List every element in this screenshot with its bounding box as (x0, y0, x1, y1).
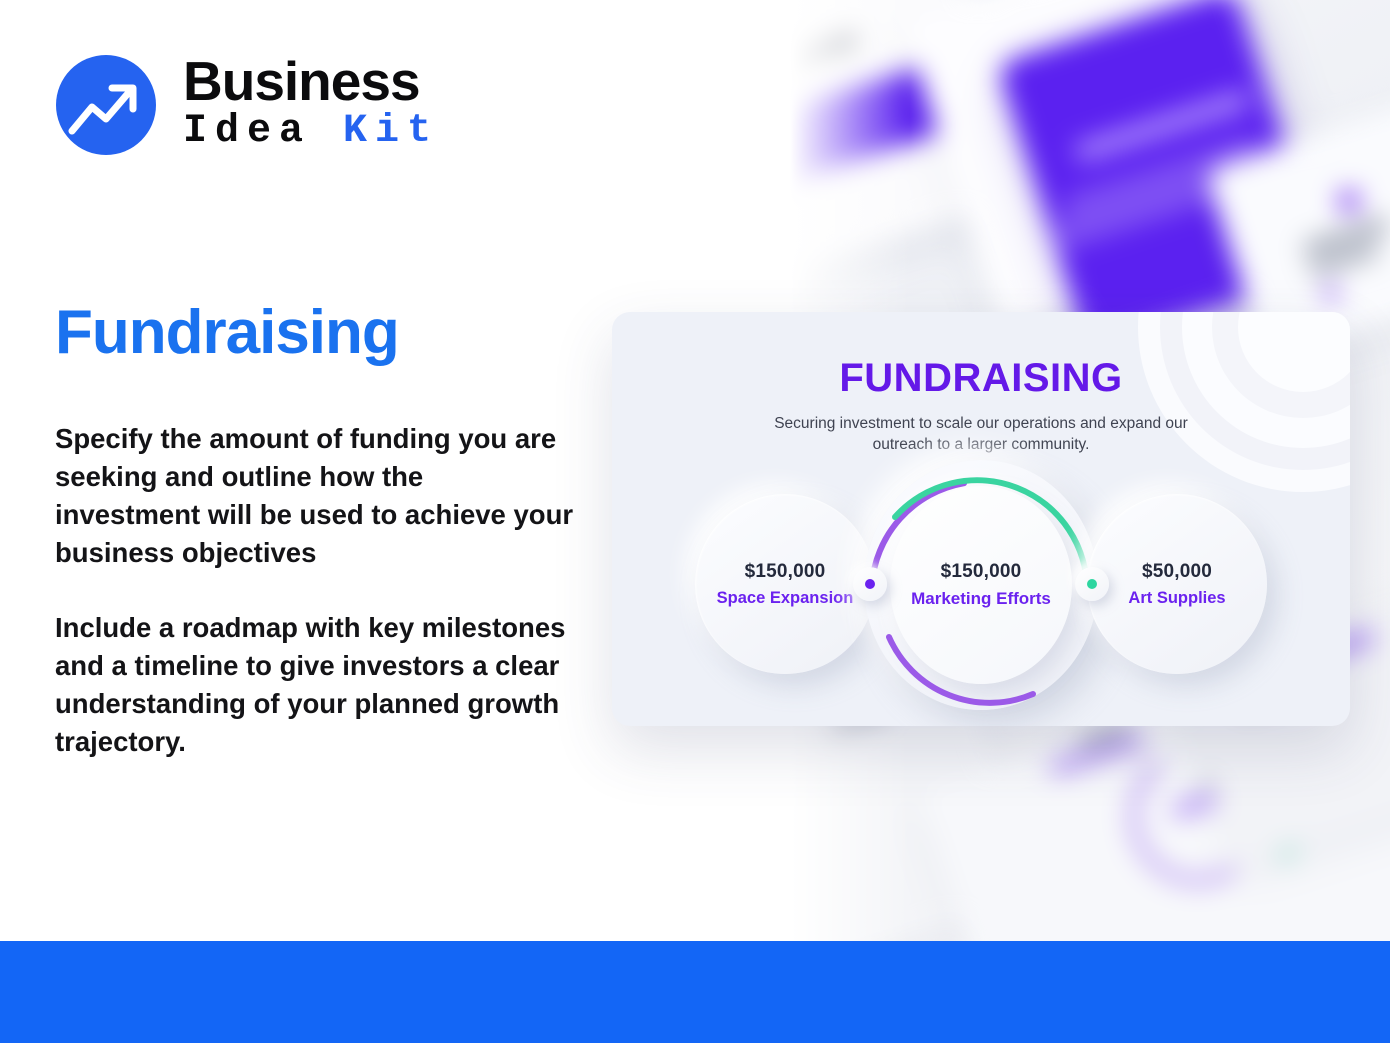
funding-amount: $150,000 (745, 561, 826, 583)
brand-wordmark: Business Idea Kit (183, 51, 439, 155)
brand-name-kit: Kit (343, 109, 439, 154)
fundraising-slide-card[interactable]: FUNDRAISING Securing investment to scale… (612, 312, 1350, 726)
funding-item-center[interactable]: $150,000 Marketing Efforts (864, 460, 1098, 710)
connector-dot-glyph (865, 579, 875, 589)
footer-bar (0, 941, 1390, 1043)
right-connector-dot (1075, 567, 1109, 601)
brand-name-line2: Idea Kit (183, 109, 439, 155)
mockup-dot-purple (1338, 190, 1360, 212)
center-inner-disc: $150,000 Marketing Efforts (890, 486, 1072, 684)
funding-amount: $150,000 (941, 561, 1022, 583)
left-connector-dot (853, 567, 887, 601)
funding-item-left[interactable]: $150,000 Space Expansion (695, 494, 875, 674)
brand-name-line1: Business (183, 51, 439, 111)
description-paragraph-1: Specify the amount of funding you are se… (55, 420, 575, 572)
funding-breakdown-cluster: $150,000 Space Expansion $150,000 Market… (612, 460, 1350, 710)
funding-category: Art Supplies (1128, 589, 1225, 608)
connector-dot-glyph (1087, 579, 1097, 589)
mockup-dot-purple (1324, 286, 1338, 300)
funding-amount: $50,000 (1142, 561, 1212, 583)
card-title: FUNDRAISING (612, 356, 1350, 401)
funding-item-right[interactable]: $50,000 Art Supplies (1087, 494, 1267, 674)
brand-name-idea: Idea (183, 109, 343, 154)
card-subtitle: Securing investment to scale our operati… (766, 413, 1196, 455)
page-title: Fundraising (55, 297, 399, 368)
slide-page: Business Idea Kit Fundraising Specify th… (0, 0, 1390, 1043)
funding-category: Marketing Efforts (911, 589, 1051, 609)
description-paragraph-2: Include a roadmap with key milestones an… (55, 609, 575, 761)
funding-category: Space Expansion (717, 589, 854, 608)
growth-arrow-circle-icon (56, 55, 156, 155)
